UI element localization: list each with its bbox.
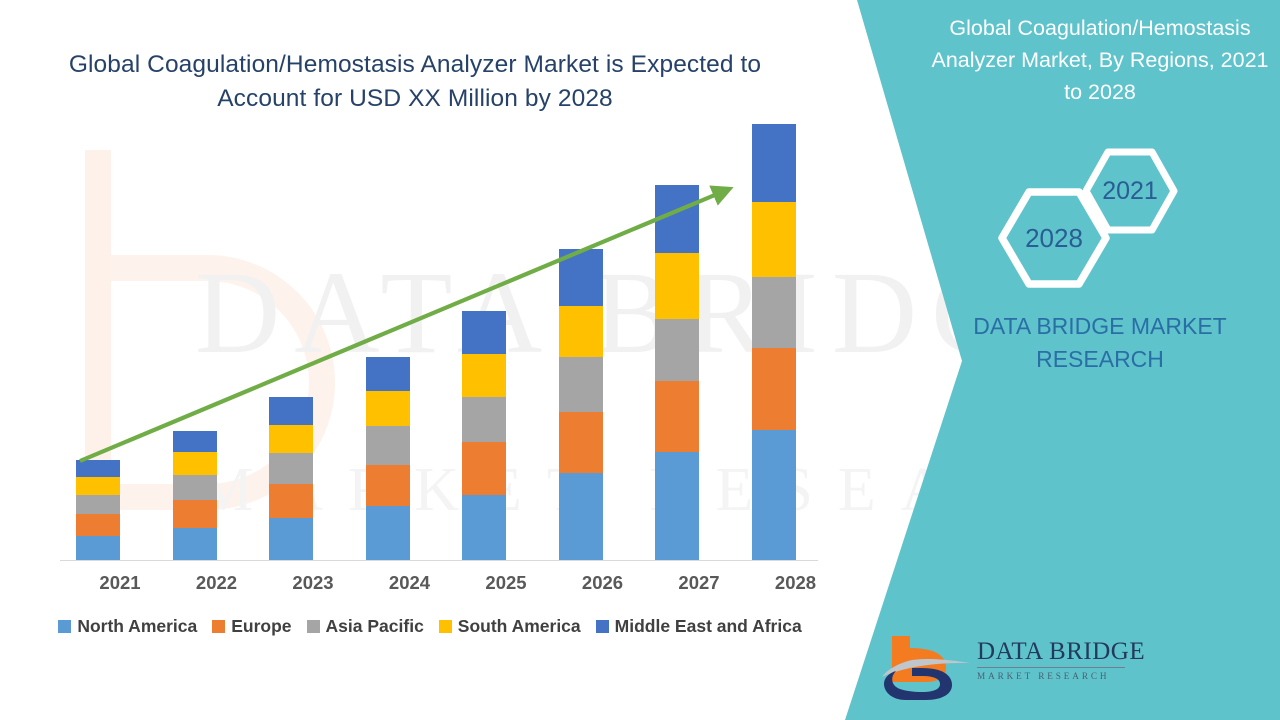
bar-segment-south-america[interactable] [752, 202, 796, 277]
bar-segment-north-america[interactable] [76, 536, 120, 560]
legend-item[interactable]: North America [58, 616, 197, 637]
logo-subtitle: MARKET RESEARCH [977, 671, 1127, 681]
bar-segment-europe[interactable] [269, 484, 313, 518]
bar-segment-south-america[interactable] [559, 306, 603, 357]
bar-segment-middle-east-and-africa[interactable] [655, 185, 699, 253]
slide-canvas: DATA BRIDGE MARKET RESEARCH Global Coagu… [0, 0, 1280, 720]
bar-segment-middle-east-and-africa[interactable] [752, 124, 796, 202]
bar-segment-europe[interactable] [559, 412, 603, 473]
x-axis-line [60, 560, 818, 561]
hex-badge-2028-label: 2028 [1025, 223, 1083, 254]
bar-segment-europe[interactable] [366, 465, 410, 507]
chart-plot-area: 20212022202320242025202620272028 [0, 0, 860, 620]
bar-segment-asia-pacific[interactable] [462, 397, 506, 442]
bar-stack [559, 249, 603, 560]
panel-title: Global Coagulation/Hemostasis Analyzer M… [920, 12, 1280, 108]
chart-legend: North AmericaEuropeAsia PacificSouth Ame… [0, 616, 860, 637]
legend-item[interactable]: South America [439, 616, 581, 637]
bar-segment-south-america[interactable] [269, 425, 313, 454]
x-axis-label: 2028 [736, 572, 856, 594]
bar-segment-asia-pacific[interactable] [269, 453, 313, 484]
legend-swatch-icon [439, 620, 452, 633]
bar-segment-asia-pacific[interactable] [366, 426, 410, 464]
bar-segment-middle-east-and-africa[interactable] [559, 249, 603, 306]
databridge-logo: DATA BRIDGE MARKET RESEARCH [880, 630, 1125, 702]
legend-item[interactable]: Europe [212, 616, 291, 637]
bar-stack [269, 397, 313, 560]
legend-label: Europe [231, 616, 291, 637]
growth-trend-arrow [0, 0, 860, 620]
legend-label: South America [458, 616, 581, 637]
panel-content: Global Coagulation/Hemostasis Analyzer M… [920, 0, 1280, 720]
bar-segment-south-america[interactable] [366, 391, 410, 427]
bar-segment-europe[interactable] [173, 500, 217, 528]
bar-segment-south-america[interactable] [76, 477, 120, 495]
bar-segment-south-america[interactable] [462, 354, 506, 397]
bar-segment-middle-east-and-africa[interactable] [462, 311, 506, 354]
bar-segment-asia-pacific[interactable] [752, 277, 796, 348]
bar-segment-asia-pacific[interactable] [173, 475, 217, 500]
bar-segment-north-america[interactable] [462, 495, 506, 560]
databridge-logo-mark-icon [880, 630, 975, 702]
logo-title: DATA BRIDGE [977, 638, 1127, 666]
bar-segment-europe[interactable] [462, 442, 506, 495]
bar-segment-south-america[interactable] [173, 452, 217, 475]
bar-segment-north-america[interactable] [752, 430, 796, 560]
bar-segment-north-america[interactable] [173, 528, 217, 560]
bar-segment-asia-pacific[interactable] [76, 495, 120, 514]
legend-label: North America [77, 616, 197, 637]
hex-badge-2028: 2028 [998, 188, 1110, 288]
bar-segment-south-america[interactable] [655, 253, 699, 319]
bar-stack [366, 357, 410, 560]
legend-label: Asia Pacific [326, 616, 424, 637]
bar-segment-middle-east-and-africa[interactable] [173, 431, 217, 453]
bar-segment-north-america[interactable] [366, 506, 410, 560]
bar-segment-europe[interactable] [655, 381, 699, 452]
legend-item[interactable]: Middle East and Africa [596, 616, 802, 637]
bar-segment-north-america[interactable] [655, 452, 699, 560]
bar-segment-europe[interactable] [752, 348, 796, 430]
hex-badge-2021-label: 2021 [1102, 177, 1158, 206]
legend-swatch-icon [212, 620, 225, 633]
legend-label: Middle East and Africa [615, 616, 802, 637]
panel-brand-name: DATA BRIDGE MARKET RESEARCH [920, 310, 1280, 376]
databridge-logo-wordmark: DATA BRIDGE MARKET RESEARCH [977, 638, 1127, 681]
bar-stack [655, 185, 699, 560]
legend-swatch-icon [58, 620, 71, 633]
bar-stack [462, 311, 506, 560]
bar-segment-europe[interactable] [76, 514, 120, 536]
bar-segment-middle-east-and-africa[interactable] [366, 357, 410, 391]
logo-divider [977, 667, 1125, 668]
bar-segment-north-america[interactable] [269, 518, 313, 560]
bar-segment-north-america[interactable] [559, 473, 603, 560]
bar-segment-middle-east-and-africa[interactable] [269, 397, 313, 425]
bar-stack [76, 460, 120, 560]
legend-swatch-icon [596, 620, 609, 633]
bar-segment-asia-pacific[interactable] [559, 357, 603, 412]
legend-swatch-icon [307, 620, 320, 633]
bar-stack [173, 431, 217, 560]
bar-segment-middle-east-and-africa[interactable] [76, 460, 120, 477]
bar-stack [752, 124, 796, 560]
bar-segment-asia-pacific[interactable] [655, 319, 699, 381]
legend-item[interactable]: Asia Pacific [307, 616, 424, 637]
